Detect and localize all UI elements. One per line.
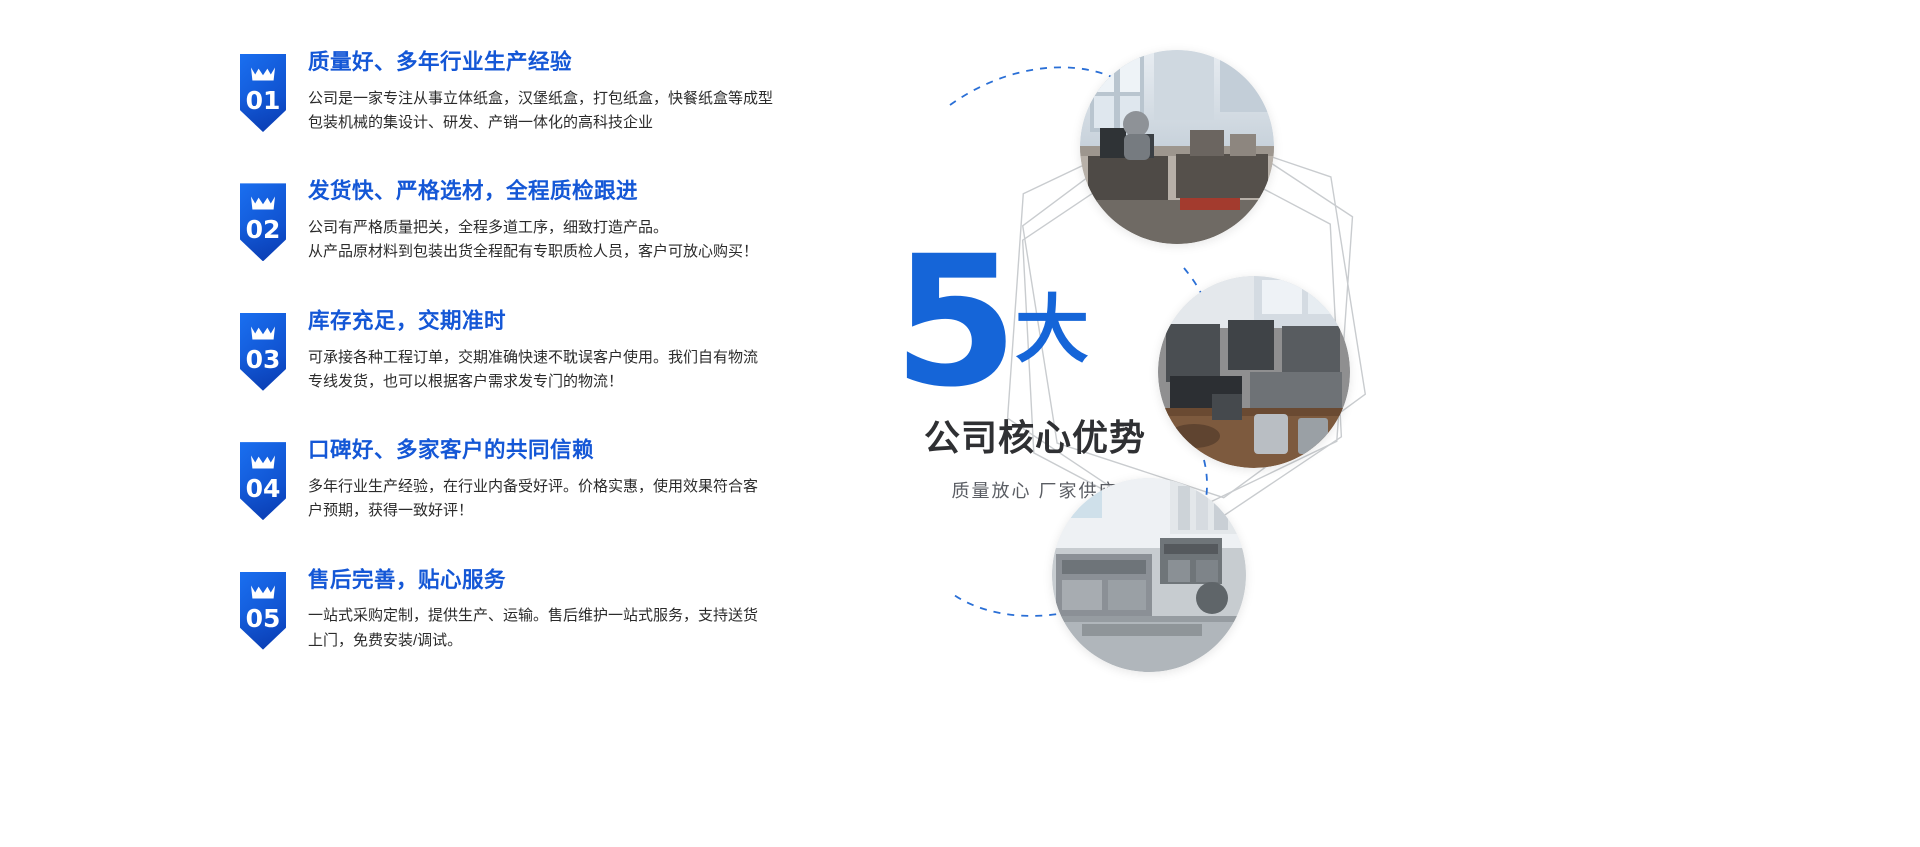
badge-01: 01 xyxy=(240,54,286,132)
office-workstation-photo[interactable] xyxy=(1080,50,1274,244)
advantage-text: 库存充足，交期准时 可承接各种工程订单，交期准确快速不耽误客户使用。我们自有物流… xyxy=(308,307,758,394)
advantage-title: 库存充足，交期准时 xyxy=(308,309,758,335)
advantage-text: 售后完善，贴心服务 一站式采购定制，提供生产、运输。售后维护一站式服务，支持送货… xyxy=(308,566,758,653)
crown-icon xyxy=(250,584,276,601)
crown-icon xyxy=(250,454,276,471)
big-number-row: 5 大 xyxy=(865,255,1205,405)
advantage-desc-line: 公司是一家专注从事立体纸盒，汉堡纸盒，打包纸盒，快餐纸盒等成型 xyxy=(308,87,773,111)
crown-icon xyxy=(250,325,276,342)
production-machine-photo[interactable] xyxy=(1052,478,1246,672)
badge-number: 05 xyxy=(240,606,286,631)
advantage-description: 公司是一家专注从事立体纸盒，汉堡纸盒，打包纸盒，快餐纸盒等成型 包装机械的集设计… xyxy=(308,87,773,136)
badge-04: 04 xyxy=(240,442,286,520)
advantage-description: 公司有严格质量把关，全程多道工序，细致打造产品。 从产品原材料到包装出货全程配有… xyxy=(308,216,758,265)
center-text-block: 5 大 公司核心优势 质量放心 厂家供应 xyxy=(865,255,1205,503)
badge-02: 02 xyxy=(240,183,286,261)
office-interior-photo[interactable] xyxy=(1158,276,1350,468)
advantage-desc-line: 包装机械的集设计、研发、产销一体化的高科技企业 xyxy=(308,111,773,135)
advantage-title: 售后完善，贴心服务 xyxy=(308,568,758,594)
core-advantage-graphic: 5 大 公司核心优势 质量放心 厂家供应 xyxy=(780,0,1920,847)
advantage-title: 口碑好、多家客户的共同信赖 xyxy=(308,438,758,464)
advantage-desc-line: 公司有严格质量把关，全程多道工序，细致打造产品。 xyxy=(308,216,758,240)
advantage-desc-line: 户预期，获得一致好评！ xyxy=(308,499,758,523)
advantage-description: 可承接各种工程订单，交期准确快速不耽误客户使用。我们自有物流 专线发货，也可以根… xyxy=(308,346,758,395)
advantage-title: 发货快、严格选材，全程质检跟进 xyxy=(308,179,758,205)
advantage-desc-line: 可承接各种工程订单，交期准确快速不耽误客户使用。我们自有物流 xyxy=(308,346,758,370)
crown-icon xyxy=(250,195,276,212)
crown-icon xyxy=(250,66,276,83)
big-unit-da: 大 xyxy=(1015,293,1089,367)
advantage-text: 发货快、严格选材，全程质检跟进 公司有严格质量把关，全程多道工序，细致打造产品。… xyxy=(308,177,758,264)
badge-03: 03 xyxy=(240,313,286,391)
advantage-text: 质量好、多年行业生产经验 公司是一家专注从事立体纸盒，汉堡纸盒，打包纸盒，快餐纸… xyxy=(308,48,773,135)
advantage-desc-line: 上门，免费安装/调试。 xyxy=(308,629,758,653)
advantage-desc-line: 多年行业生产经验，在行业内备受好评。价格实惠，使用效果符合客 xyxy=(308,475,758,499)
advantage-title: 质量好、多年行业生产经验 xyxy=(308,50,773,76)
advantage-description: 一站式采购定制，提供生产、运输。售后维护一站式服务，支持送货 上门，免费安装/调… xyxy=(308,604,758,653)
advantage-desc-line: 从产品原材料到包装出货全程配有专职质检人员，客户可放心购买！ xyxy=(308,240,758,264)
advantage-description: 多年行业生产经验，在行业内备受好评。价格实惠，使用效果符合客 户预期，获得一致好… xyxy=(308,475,758,524)
arc-to-bottom-left xyxy=(950,592,1070,616)
badge-number: 02 xyxy=(240,217,286,242)
badge-05: 05 xyxy=(240,572,286,650)
advantage-desc-line: 一站式采购定制，提供生产、运输。售后维护一站式服务，支持送货 xyxy=(308,604,758,628)
advantage-text: 口碑好、多家客户的共同信赖 多年行业生产经验，在行业内备受好评。价格实惠，使用效… xyxy=(308,436,758,523)
badge-number: 01 xyxy=(240,88,286,113)
promo-page: 01 质量好、多年行业生产经验 公司是一家专注从事立体纸盒，汉堡纸盒，打包纸盒，… xyxy=(0,0,1920,847)
big-number-5: 5 xyxy=(893,233,1018,413)
advantage-desc-line: 专线发货，也可以根据客户需求发专门的物流！ xyxy=(308,370,758,394)
badge-number: 04 xyxy=(240,476,286,501)
badge-number: 03 xyxy=(240,347,286,372)
